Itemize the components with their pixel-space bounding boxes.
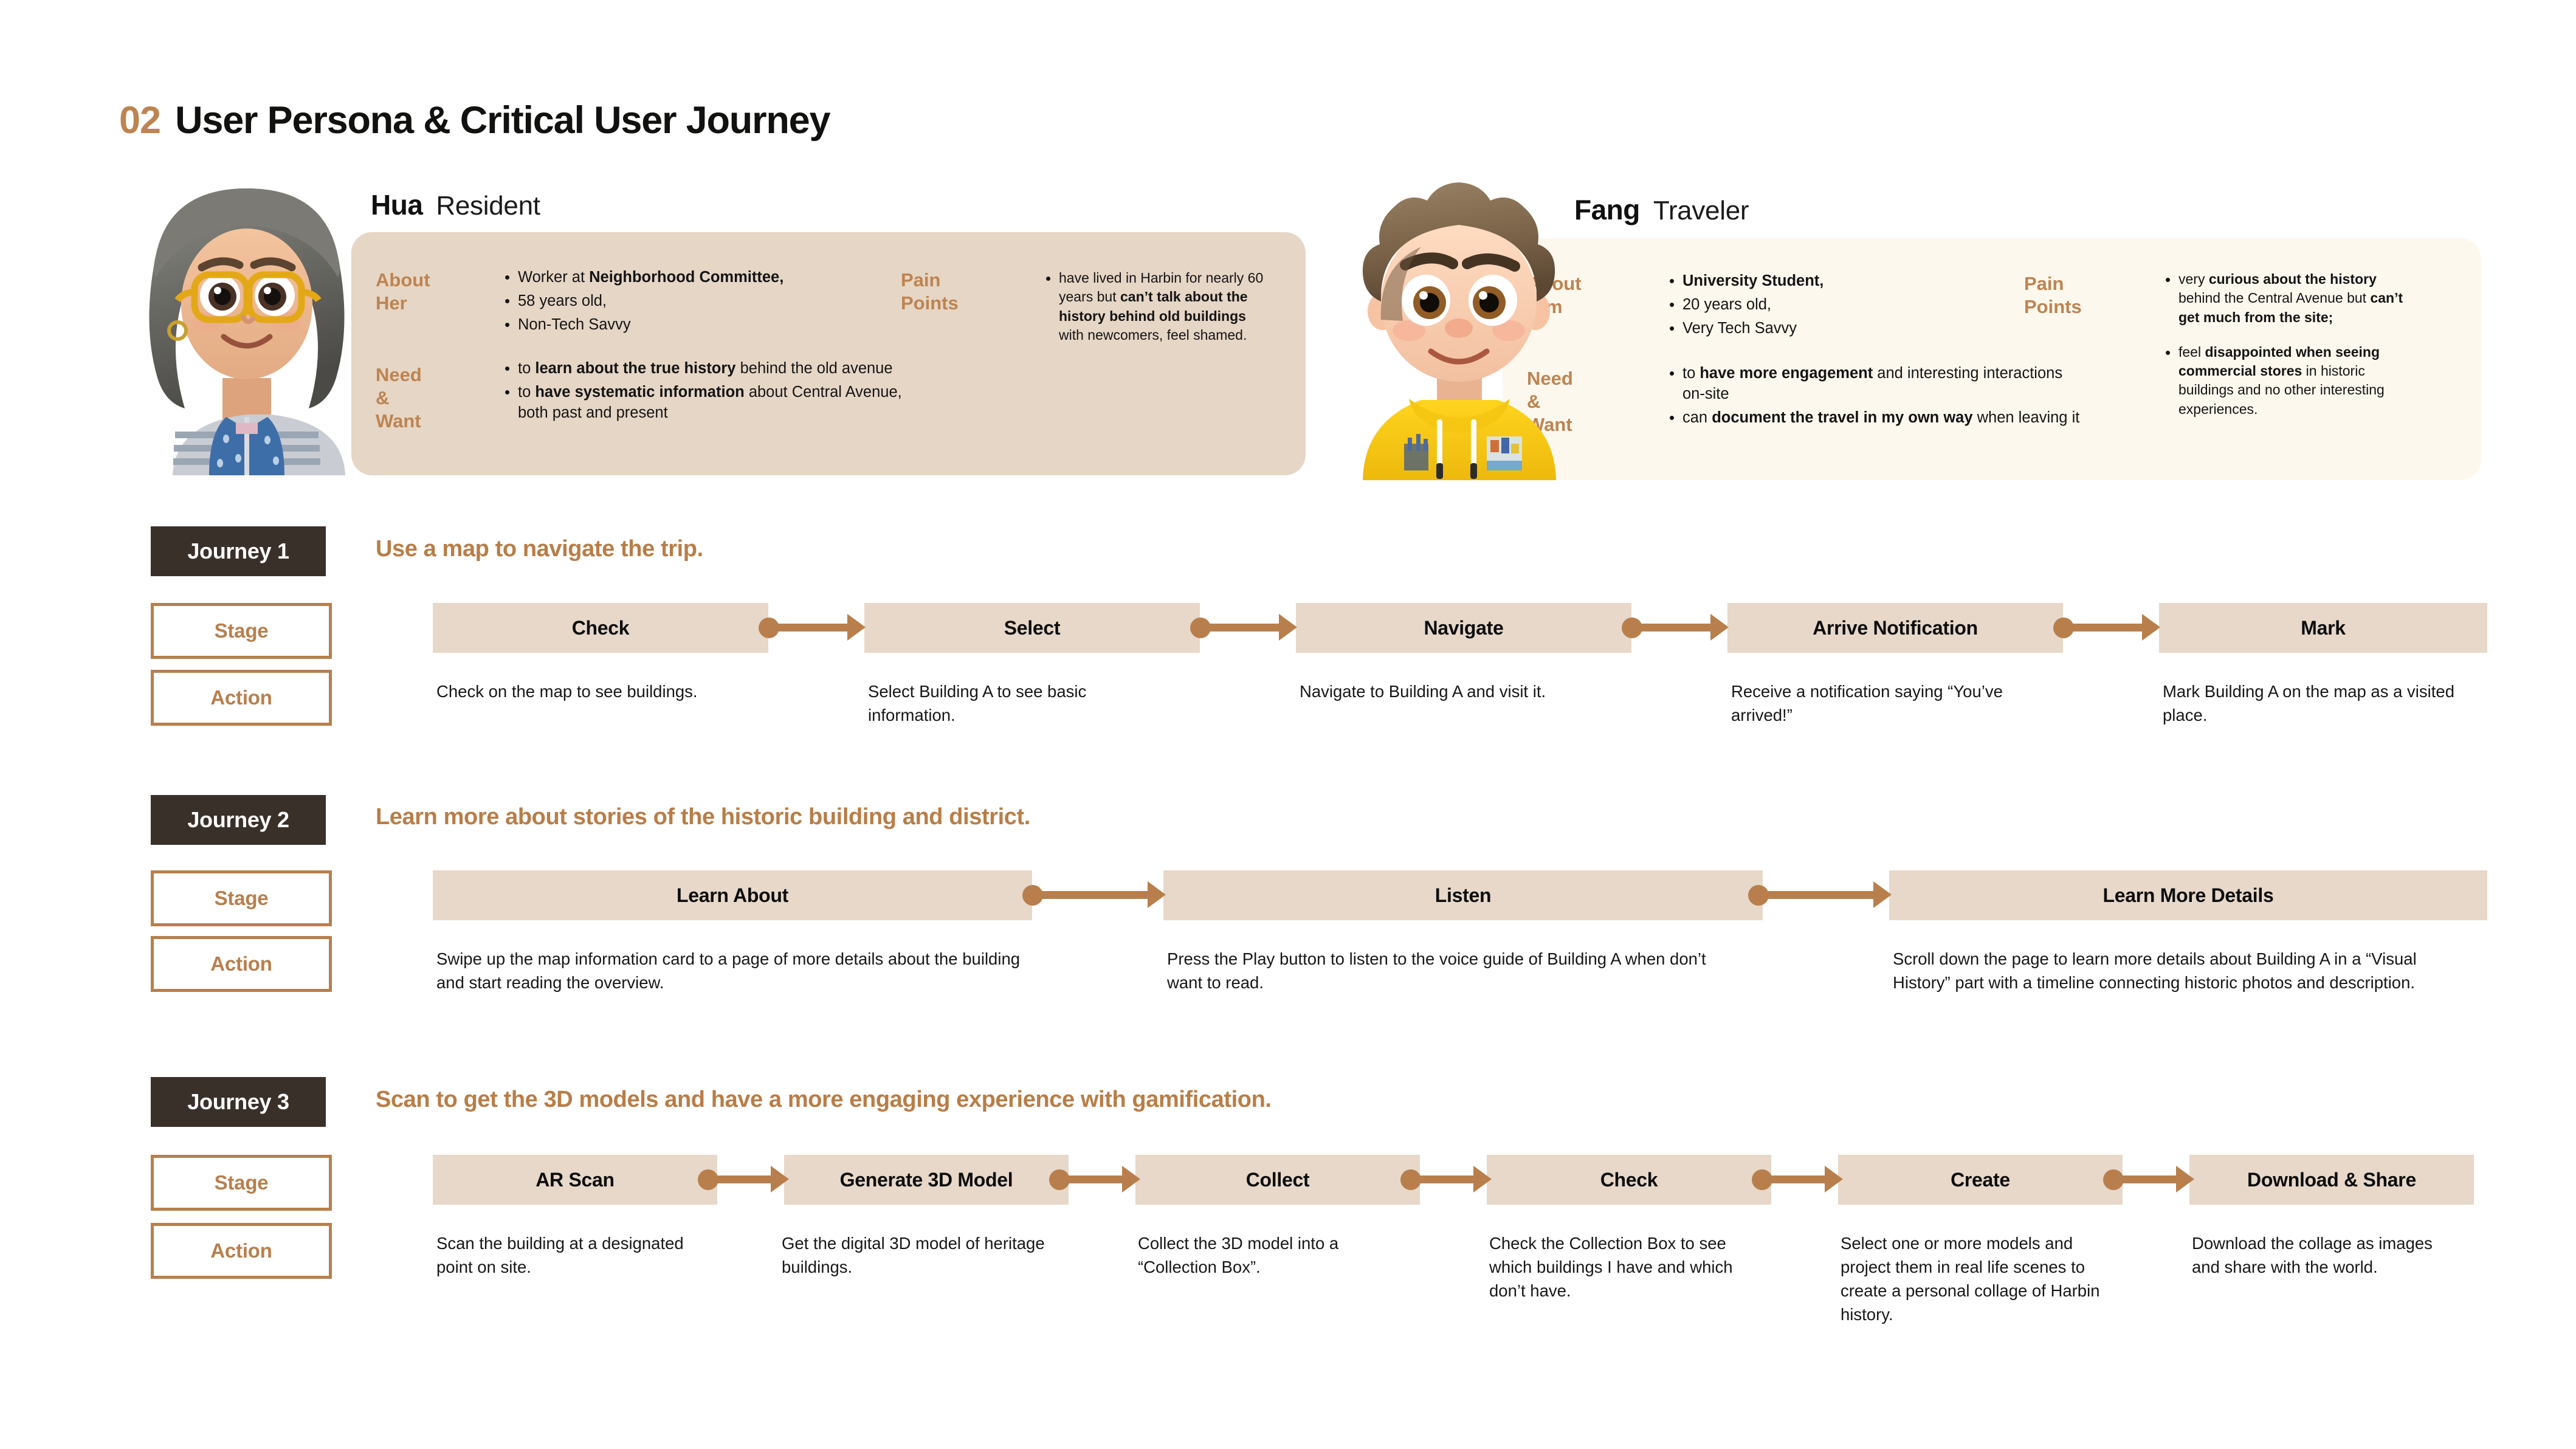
journey-2-action-label[interactable]: Action <box>151 936 332 992</box>
journey-1-arrow-1 <box>759 610 873 646</box>
persona-fang-pain-list: very curious about the history behind th… <box>2163 270 2411 421</box>
journey-3-action-6: Download the collage as images and share… <box>2192 1231 2447 1279</box>
persona-fang-role: Traveler <box>1653 196 1749 226</box>
page-header: 02 User Persona & Critical User Journey <box>119 98 830 142</box>
persona-fang-name: Fang <box>1574 193 1640 226</box>
journey-3-stage-4[interactable]: Check <box>1487 1155 1771 1205</box>
journey-3-action-5: Select one or more models and project th… <box>1841 1231 2114 1326</box>
journey-3-arrow-2 <box>1049 1162 1146 1198</box>
persona-hua-about-list: Worker at Neighborhood Committee, 58 yea… <box>502 267 891 339</box>
list-item: to have more engagement and interesting … <box>1667 363 2080 405</box>
journey-1-stage-4[interactable]: Arrive Notification <box>1727 603 2063 653</box>
journey-1-action-1: Check on the map to see buildings. <box>436 680 740 703</box>
journey-1-stage-2[interactable]: Select <box>864 603 1200 653</box>
list-item: to have systematic information about Cen… <box>502 382 903 424</box>
journey-3-action-4: Check the Collection Box to see which bu… <box>1489 1231 1769 1303</box>
journey-3-arrow-5 <box>2103 1162 2200 1198</box>
journey-1-stage-label[interactable]: Stage <box>151 603 332 659</box>
list-item: feel disappointed when seeing commercial… <box>2163 343 2411 419</box>
avatar-woman-glasses-icon <box>119 177 374 475</box>
list-item: Very Tech Savvy <box>1667 318 2092 339</box>
journey-3-stage-5[interactable]: Create <box>1838 1155 2123 1205</box>
journey-1-title: Use a map to navigate the trip. <box>376 536 703 562</box>
journey-2-arrow-2 <box>1748 877 1900 914</box>
persona-hua-need-label: Need &Want <box>376 363 422 432</box>
journey-3-badge-label: Journey 3 <box>187 1089 289 1115</box>
action-label-text: Action <box>210 686 272 709</box>
journey-3-arrow-3 <box>1400 1162 1498 1198</box>
list-item: 58 years old, <box>502 291 891 312</box>
persona-hua-about-label: About Her <box>376 269 430 315</box>
journey-2-badge-label: Journey 2 <box>187 807 289 833</box>
persona-hua-name: Hua <box>371 188 422 221</box>
journey-3-arrow-4 <box>1752 1162 1849 1198</box>
journey-1-action-4: Receive a notification saying “You’ve ar… <box>1731 680 2041 727</box>
journey-2-stage-2[interactable]: Listen <box>1163 870 1763 920</box>
journey-1-stage-1[interactable]: Check <box>433 603 768 653</box>
journey-1-arrow-3 <box>1622 610 1736 646</box>
list-item: can document the travel in my own way wh… <box>1667 408 2080 429</box>
journey-1-action-3: Navigate to Building A and visit it. <box>1300 680 1603 703</box>
journey-2-badge: Journey 2 <box>151 795 326 845</box>
journey-2-arrow-1 <box>1022 877 1174 914</box>
action-label-text: Action <box>210 952 272 976</box>
journey-1-badge-label: Journey 1 <box>187 539 289 564</box>
persona-fang-need-list: to have more engagement and interesting … <box>1667 363 2080 432</box>
journey-2-stage-label[interactable]: Stage <box>151 870 332 926</box>
journey-3-stage-6[interactable]: Download & Share <box>2189 1155 2474 1205</box>
stage-label-text: Stage <box>215 619 269 642</box>
journey-1-arrow-2 <box>1190 610 1304 646</box>
list-item: to learn about the true history behind t… <box>502 359 903 379</box>
slide-canvas: 02 User Persona & Critical User Journey … <box>0 0 2576 1449</box>
persona-hua-role: Resident <box>436 191 540 221</box>
journey-3-stage-2[interactable]: Generate 3D Model <box>784 1155 1069 1205</box>
journey-3-action-1: Scan the building at a designated point … <box>436 1231 698 1279</box>
journey-3-action-label[interactable]: Action <box>151 1223 332 1279</box>
journey-1-action-label[interactable]: Action <box>151 670 332 726</box>
journey-3-stage-label[interactable]: Stage <box>151 1155 332 1211</box>
journey-1-stage-3[interactable]: Navigate <box>1296 603 1631 653</box>
persona-hua-pain-label: Pain Points <box>901 269 959 315</box>
journey-3-stage-1[interactable]: AR Scan <box>433 1155 717 1205</box>
persona-hua-nameline: Hua Resident <box>371 188 540 221</box>
avatar-boy-hoodie-icon <box>1341 176 1578 480</box>
journey-3-action-2: Get the digital 3D model of heritage bui… <box>782 1231 1049 1279</box>
journey-1-badge: Journey 1 <box>151 526 326 576</box>
persona-hua-need-list: to learn about the true history behind t… <box>502 359 903 427</box>
journey-2-action-2: Press the Play button to listen to the v… <box>1167 947 1726 994</box>
journey-1-action-5: Mark Building A on the map as a visited … <box>2163 680 2473 727</box>
journey-1-stage-5[interactable]: Mark <box>2159 603 2487 653</box>
journey-2-stage-3[interactable]: Learn More Details <box>1889 870 2487 920</box>
stage-label-text: Stage <box>215 887 269 910</box>
list-item: Non-Tech Savvy <box>502 315 891 336</box>
journey-3-badge: Journey 3 <box>151 1077 326 1127</box>
journey-2-title: Learn more about stories of the historic… <box>376 804 1030 830</box>
journey-3-action-3: Collect the 3D model into a “Collection … <box>1138 1231 1405 1279</box>
list-item: Worker at Neighborhood Committee, <box>502 267 891 288</box>
journey-3-stage-3[interactable]: Collect <box>1135 1155 1420 1205</box>
list-item: very curious about the history behind th… <box>2163 270 2411 327</box>
journey-2-action-3: Scroll down the page to learn more detai… <box>1893 947 2458 994</box>
action-label-text: Action <box>210 1239 272 1262</box>
persona-fang-pain-label: Pain Points <box>2024 272 2082 318</box>
persona-hua-pain-list: have lived in Harbin for nearly 60 years… <box>1043 269 1274 347</box>
journey-3-title: Scan to get the 3D models and have a mor… <box>376 1087 1272 1113</box>
section-number: 02 <box>119 98 160 142</box>
persona-fang-nameline: Fang Traveler <box>1574 193 1749 226</box>
page-title: User Persona & Critical User Journey <box>175 98 830 142</box>
list-item: have lived in Harbin for nearly 60 years… <box>1043 269 1274 345</box>
journey-1-arrow-4 <box>2053 610 2168 646</box>
journey-2-action-1: Swipe up the map information card to a p… <box>436 947 1032 994</box>
stage-label-text: Stage <box>215 1171 269 1194</box>
journey-3-arrow-1 <box>698 1162 795 1198</box>
journey-2-stage-1[interactable]: Learn About <box>433 870 1032 920</box>
journey-1-action-2: Select Building A to see basic informati… <box>868 680 1172 727</box>
